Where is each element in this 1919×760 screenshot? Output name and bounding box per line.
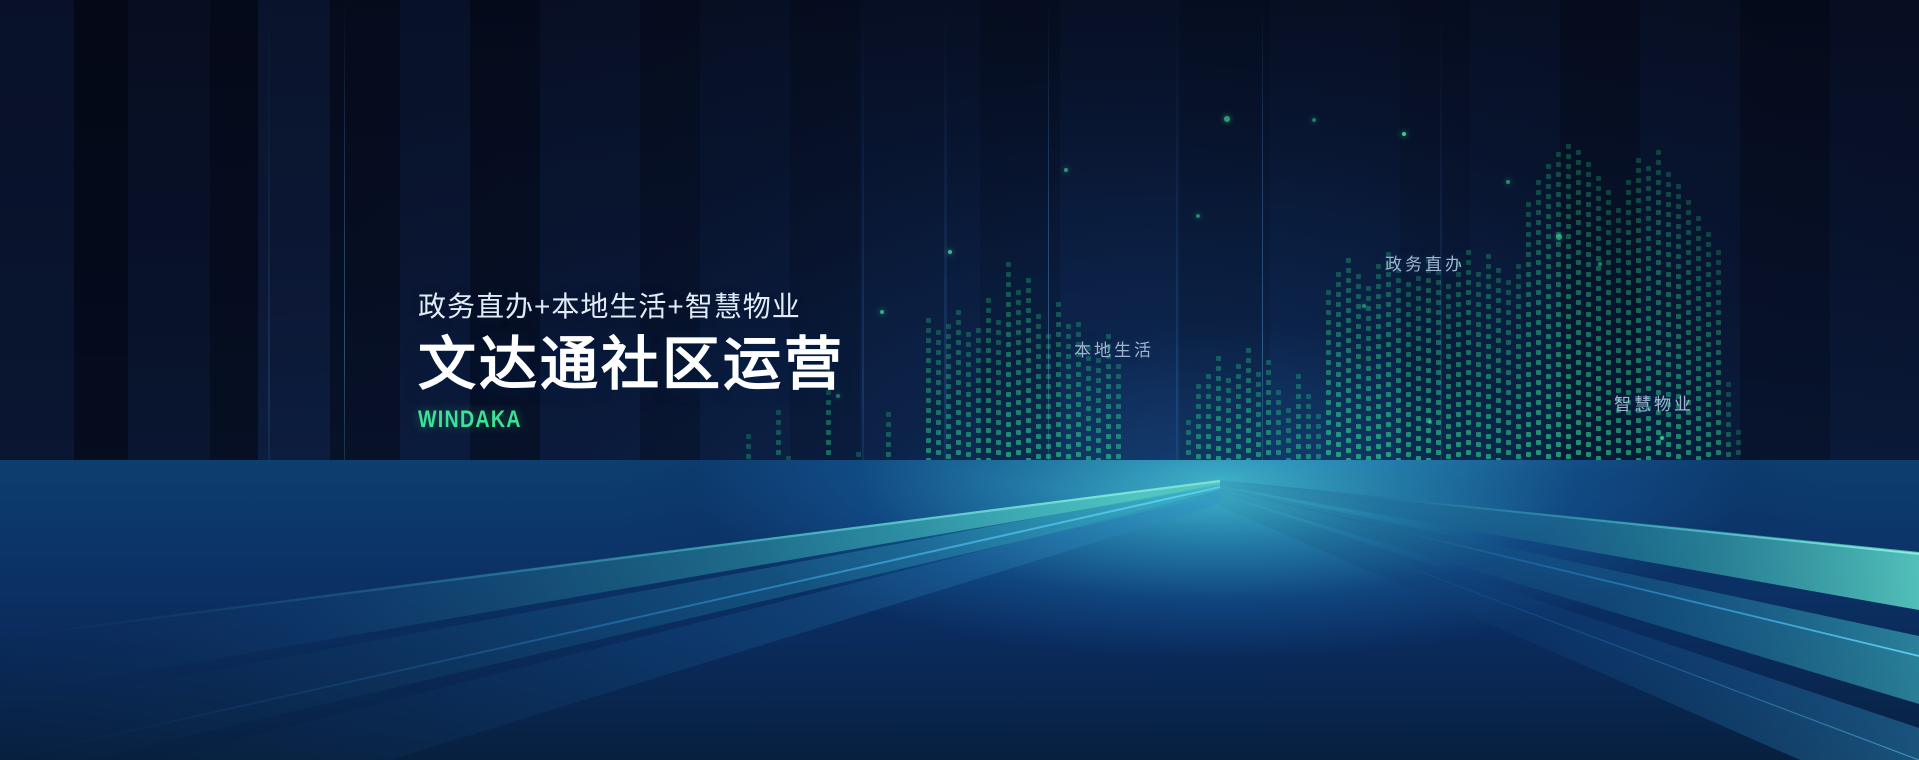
sparkle-dot (1224, 116, 1230, 122)
brand-wordmark: WINDAKA (418, 406, 768, 434)
headline-text-block: 政务直办+本地生活+智慧物业 文达通社区运营 WINDAKA (418, 292, 845, 434)
sparkle-dot (1598, 262, 1602, 266)
sparkle-dot (1556, 234, 1562, 240)
sparkle-dot (1428, 420, 1432, 424)
sparkle-dot (1196, 214, 1200, 218)
perspective-floor (0, 460, 1919, 760)
sparkle-dot (1660, 436, 1664, 440)
floating-label-3: 智慧物业 (1614, 390, 1694, 415)
sparkle-dot (880, 310, 884, 314)
floating-label-1: 政务直办 (1385, 250, 1465, 275)
hero-banner: 政务直办本地生活智慧物业 政务直办+本地生活+智慧物业 文达通社区运营 WIND… (0, 0, 1919, 760)
sparkle-dot (1402, 132, 1406, 136)
banner-headline: 文达通社区运营 (418, 335, 845, 396)
sparkle-dot (948, 250, 952, 254)
floating-label-2: 本地生活 (1074, 336, 1154, 361)
sparkle-dot (1064, 168, 1068, 172)
sparkle-dot (1312, 118, 1316, 122)
banner-subtitle: 政务直办+本地生活+智慧物业 (418, 292, 845, 323)
sparkle-dot (1506, 180, 1510, 184)
floor-perspective-lines (0, 460, 1919, 760)
sparkle-dot (1362, 304, 1366, 308)
